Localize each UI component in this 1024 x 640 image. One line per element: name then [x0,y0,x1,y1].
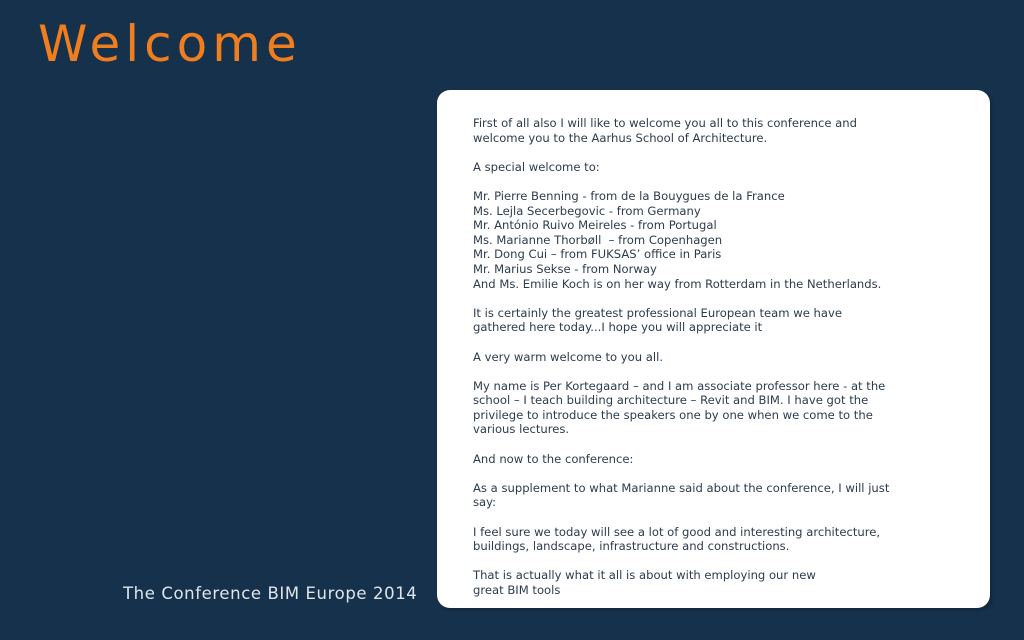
paragraph: A special welcome to: [473,160,980,175]
paragraph: That is actually what it all is about wi… [473,568,980,597]
paragraph: It is certainly the greatest professiona… [473,306,980,335]
paragraph: As a supplement to what Marianne said ab… [473,481,980,510]
page-title: Welcome [38,12,302,76]
paragraph: My name is Per Kortegaard – and I am ass… [473,379,980,437]
text-content-panel: First of all also I will like to welcome… [437,90,990,608]
slide-footer: The Conference BIM Europe 2014 [123,584,417,603]
panel-body: First of all also I will like to welcome… [473,116,980,598]
paragraph: First of all also I will like to welcome… [473,116,980,145]
paragraph: I feel sure we today will see a lot of g… [473,525,980,554]
paragraph: A very warm welcome to you all. [473,350,980,365]
presentation-slide: Welcome First of all also I will like to… [0,0,1024,640]
paragraph: And now to the conference: [473,452,980,467]
speaker-list: Mr. Pierre Benning - from de la Bouygues… [473,189,980,291]
